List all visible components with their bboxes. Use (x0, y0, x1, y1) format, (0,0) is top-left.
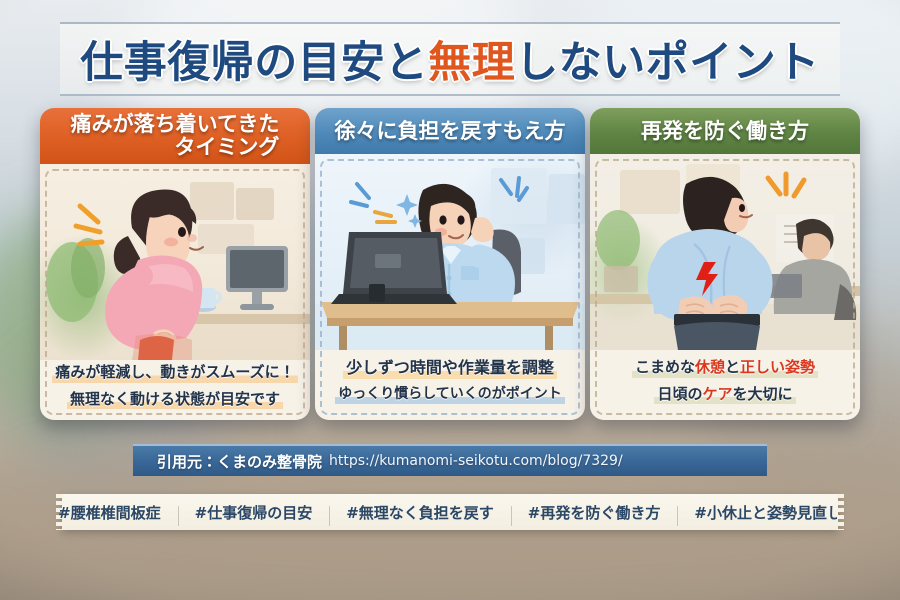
title-accent: 無理 (428, 38, 515, 88)
title-part2: しないポイント (515, 38, 820, 88)
caption-1-a: こまめな (635, 358, 695, 376)
hashtag-item[interactable]: #仕事復帰の目安 (178, 502, 330, 523)
caption-line-2: ゆっくり慣らしていくのがポイント (335, 386, 565, 404)
caption-line-1: 少しずつ時間や作業量を調整 (343, 358, 557, 379)
card-caption-gradual-return: 少しずつ時間や作業量を調整 ゆっくり慣らしていくのがポイント (323, 350, 577, 412)
card-header-line2: タイミング (71, 136, 280, 159)
card-caption-prevent-relapse: こまめな休憩と正しい姿勢 日頃のケアを大切に (598, 350, 852, 412)
citation-ribbon[interactable]: 引用元：くまのみ整骨院 https://kumanomi-seikotu.com… (133, 444, 767, 476)
hashtag-item[interactable]: #再発を防ぐ働き方 (511, 502, 678, 523)
citation-url[interactable]: https://kumanomi-seikotu.com/blog/7329/ (329, 453, 623, 469)
caption-1-highlight-rest: 休憩 (695, 358, 725, 376)
hashtag-item[interactable]: #無理なく負担を戻す (329, 502, 511, 523)
hashtag-item[interactable]: #腰椎椎間板症 (41, 502, 178, 523)
card-header-line1: 再発を防ぐ働き方 (641, 119, 809, 143)
card-gradual-return[interactable]: 徐々に負担を戻すもえ方 (315, 108, 585, 420)
hashtag-item[interactable]: #小休止と姿勢見直し (677, 502, 859, 523)
caption-2-highlight-care: ケア (702, 385, 732, 403)
caption-1-c: と (725, 358, 740, 376)
card-timing[interactable]: 痛みが落ち着いてきた タイミング (40, 108, 310, 420)
caption-line-1: 痛みが軽減し、動きがスムーズに！ (52, 363, 297, 383)
caption-line-2: 無理なく動ける状態が目安です (67, 390, 283, 410)
card-header-timing: 痛みが落ち着いてきた タイミング (40, 108, 310, 164)
caption-2-c: を大切に (733, 385, 793, 403)
hashtag-bar: #腰椎椎間板症 #仕事復帰の目安 #無理なく負担を戻す #再発を防ぐ働き方 #小… (62, 494, 838, 530)
card-body-timing: 痛みが軽減し、動きがスムーズに！ 無理なく動ける状態が目安です (40, 164, 310, 420)
card-body-prevent-relapse: こまめな休憩と正しい姿勢 日頃のケアを大切に (590, 154, 860, 420)
title-band: 仕事復帰の目安と無理しないポイント (60, 22, 840, 96)
page-title: 仕事復帰の目安と無理しないポイント (80, 28, 820, 90)
illustration-man-back-pain (590, 154, 860, 350)
card-header-gradual-return: 徐々に負担を戻すもえ方 (315, 108, 585, 154)
card-header-prevent-relapse: 再発を防ぐ働き方 (590, 108, 860, 154)
citation-label: 引用元：くまのみ整骨院 (157, 451, 322, 472)
card-prevent-relapse[interactable]: 再発を防ぐ働き方 (590, 108, 860, 420)
card-header-line1: 徐々に負担を戻すもえ方 (335, 119, 566, 143)
illustration-man-at-laptop (315, 154, 585, 350)
card-caption-timing: 痛みが軽減し、動きがスムーズに！ 無理なく動ける状態が目安です (48, 360, 302, 412)
caption-line-1: こまめな休憩と正しい姿勢 (632, 358, 818, 378)
caption-2-a: 日頃の (657, 385, 702, 403)
card-body-gradual-return: 少しずつ時間や作業量を調整 ゆっくり慣らしていくのがポイント (315, 154, 585, 420)
title-part1: 仕事復帰の目安と (80, 38, 428, 88)
card-header-line1: 痛みが落ち着いてきた (71, 112, 280, 136)
illustration-woman-back-pain (40, 164, 310, 360)
caption-1-highlight-posture: 正しい姿勢 (740, 358, 815, 376)
caption-line-2: 日頃のケアを大切に (654, 385, 795, 405)
